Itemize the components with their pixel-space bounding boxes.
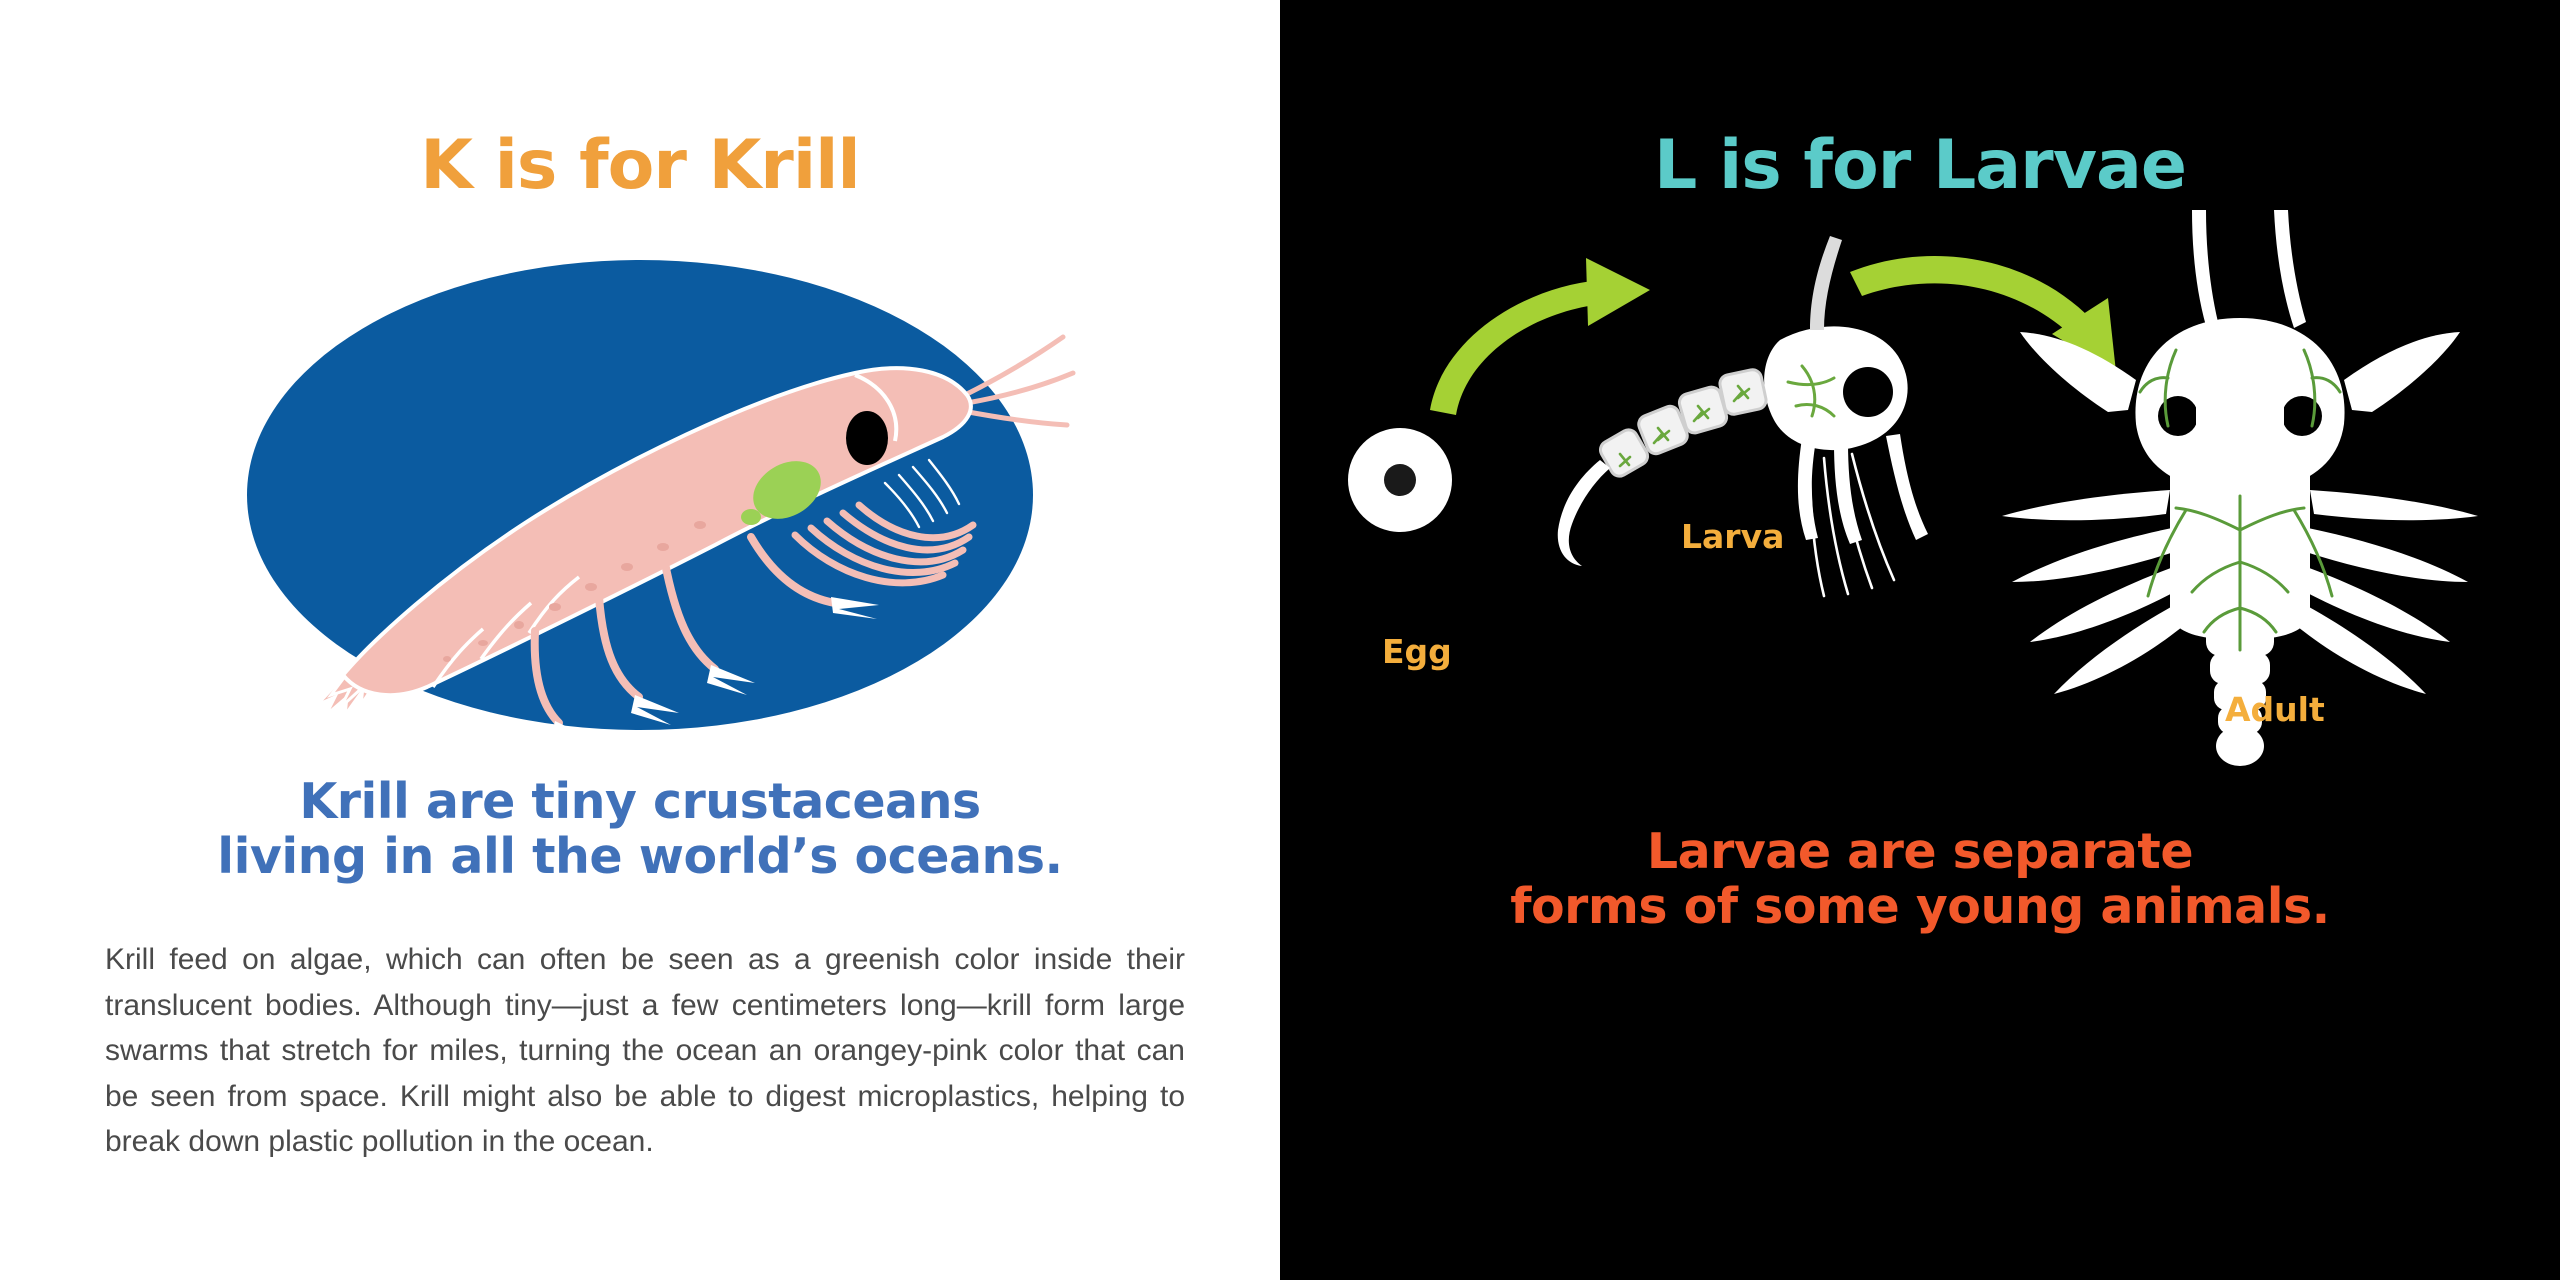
krill-illustration: [195, 245, 1085, 745]
stage-label-egg: Egg: [1382, 632, 1452, 671]
heading-line-2: forms of some young animals.: [1280, 880, 2560, 935]
heading-line-2: living in all the world’s oceans.: [0, 830, 1280, 885]
arrow-egg-to-larva: [1430, 258, 1650, 415]
page-left-krill: K is for Krill: [0, 0, 1280, 1280]
heading-line-1: Krill are tiny crustaceans: [0, 775, 1280, 830]
page-heading-larvae: Larvae are separate forms of some young …: [1280, 825, 2560, 935]
krill-eye: [846, 411, 888, 465]
stage-label-adult: Adult: [2225, 690, 2325, 729]
page-title-larvae: L is for Larvae: [1280, 132, 2560, 200]
stage-label-larva: Larva: [1681, 517, 1784, 556]
body-paragraph-krill: Krill feed on algae, which can often be …: [105, 937, 1185, 1165]
egg-icon: [1348, 428, 1452, 532]
heading-line-1: Larvae are separate: [1280, 825, 2560, 880]
book-spread: K is for Krill: [0, 0, 2560, 1280]
lifecycle-svg: [1290, 210, 2560, 810]
page-heading-krill: Krill are tiny crustaceans living in all…: [0, 775, 1280, 885]
adult-crustacean-icon: [2002, 210, 2478, 766]
larvae-lifecycle-diagram: [1290, 210, 2560, 810]
krill-svg: [195, 245, 1085, 745]
page-title-krill: K is for Krill: [0, 132, 1280, 200]
